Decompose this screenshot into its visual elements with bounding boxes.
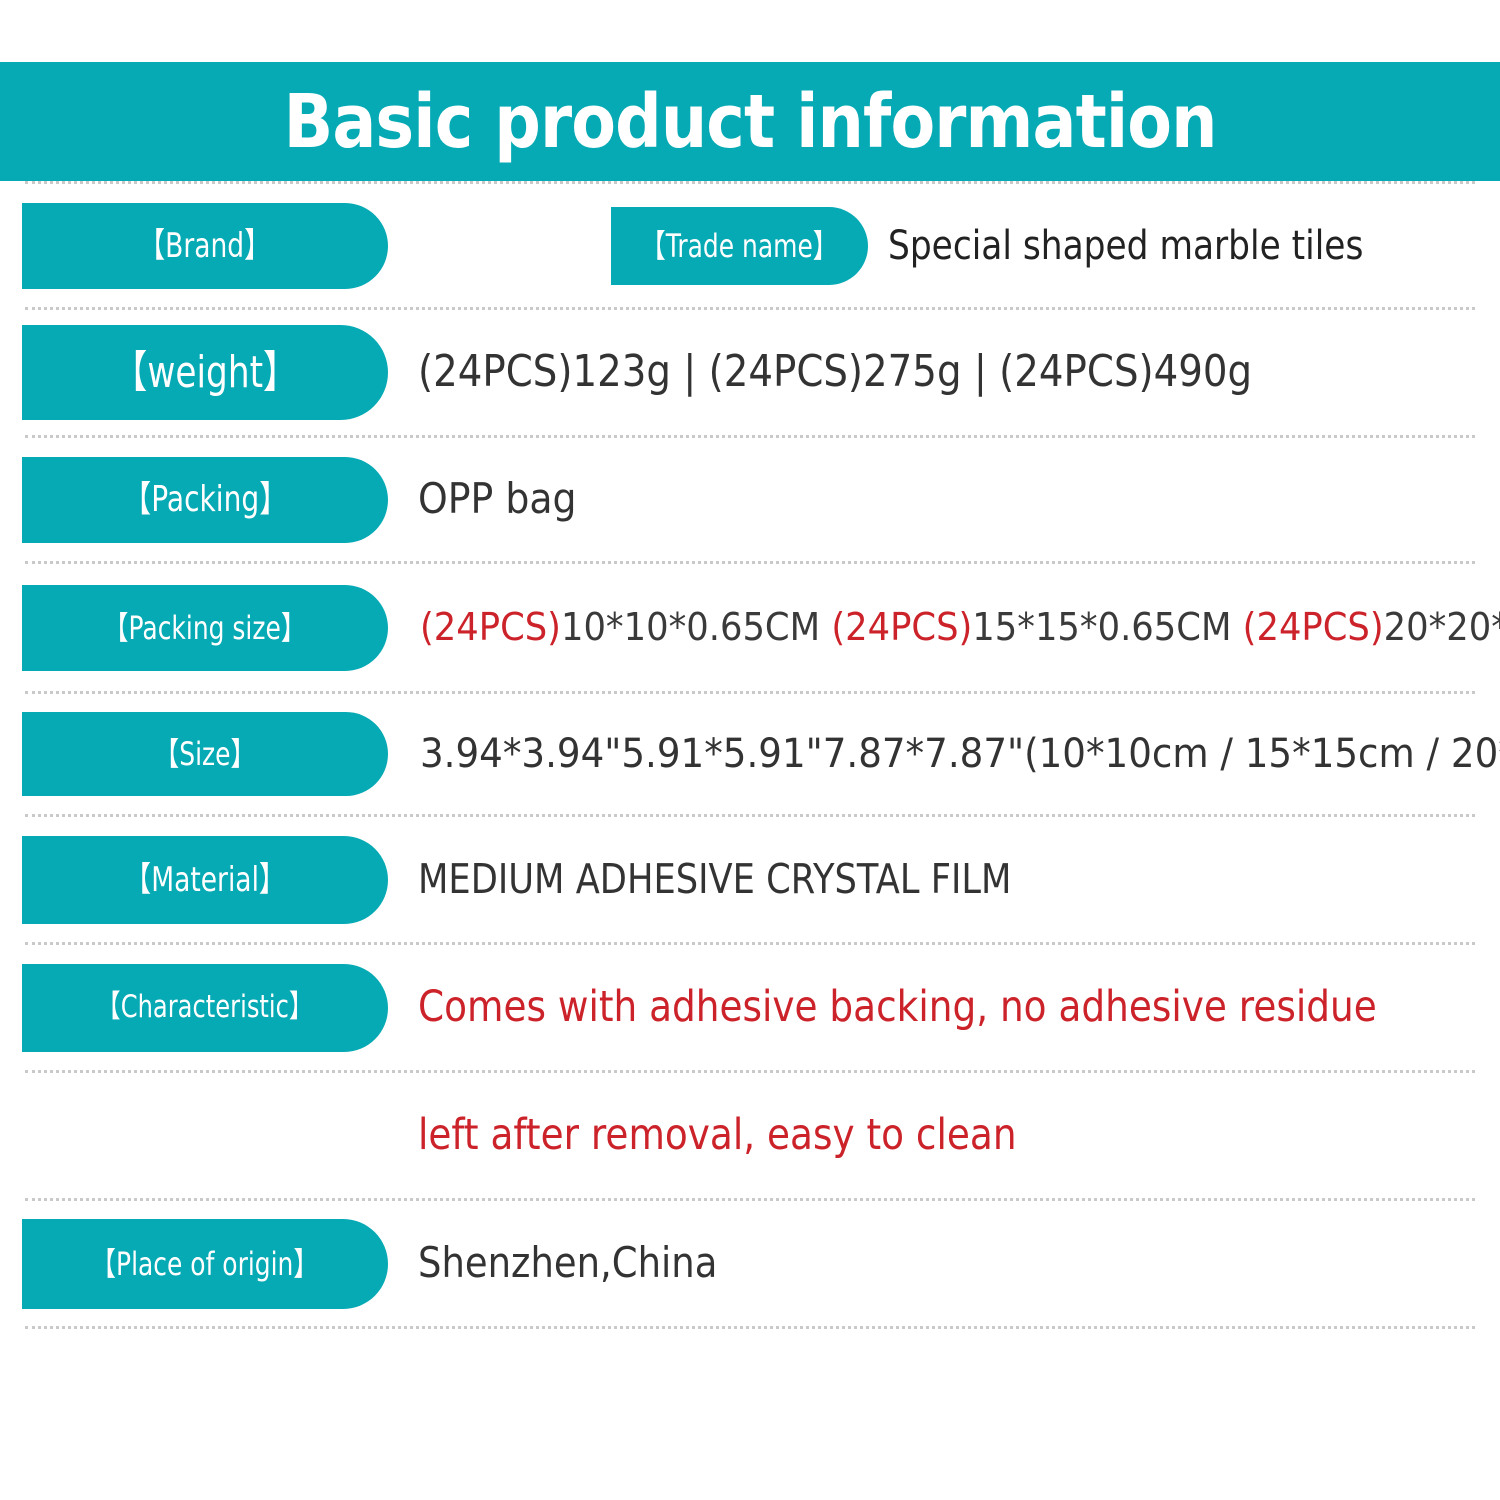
- table-row-size: 【Size】 3.94*3.94"5.91*5.91"7.87*7.87"(10…: [0, 694, 1500, 814]
- packing-size-dim-3: 20*20*0.65CM: [1384, 605, 1500, 649]
- value-packing-size: (24PCS)10*10*0.65CM (24PCS)15*15*0.65CM …: [420, 607, 1500, 649]
- value-trade-name: Special shaped marble tiles: [888, 223, 1363, 269]
- table-row-characteristic: 【Characteristic】 Comes with adhesive bac…: [0, 945, 1500, 1070]
- packing-size-qty-3: (24PCS): [1243, 605, 1384, 649]
- table-row-packing-size: 【Packing size】 (24PCS)10*10*0.65CM (24PC…: [0, 564, 1500, 691]
- table-row-weight: 【weight】 (24PCS)123g | (24PCS)275g | (24…: [0, 310, 1500, 435]
- label-pill-trade-name: 【Trade name】: [611, 207, 868, 285]
- label-pill-place-of-origin: 【Place of origin】: [22, 1219, 388, 1309]
- label-pill-characteristic: 【Characteristic】: [22, 964, 388, 1052]
- label-characteristic: 【Characteristic】: [97, 992, 314, 1023]
- label-trade-name: 【Trade name】: [641, 230, 838, 262]
- label-pill-size: 【Size】: [22, 712, 388, 796]
- value-size: 3.94*3.94"5.91*5.91"7.87*7.87"(10*10cm /…: [420, 732, 1500, 776]
- value-weight: (24PCS)123g | (24PCS)275g | (24PCS)490g: [418, 348, 1252, 396]
- label-pill-packing: 【Packing】: [22, 457, 388, 543]
- label-material: 【Material】: [125, 863, 286, 897]
- value-place-of-origin: Shenzhen,China: [418, 1240, 717, 1286]
- page-title: Basic product information: [284, 85, 1217, 159]
- label-pill-packing-size: 【Packing size】: [22, 585, 388, 671]
- value-material: MEDIUM ADHESIVE CRYSTAL FILM: [418, 857, 1011, 902]
- label-brand: 【Brand】: [139, 229, 271, 263]
- label-pill-brand: 【Brand】: [22, 203, 388, 289]
- value-characteristic-line2: left after removal, easy to clean: [418, 1112, 1017, 1159]
- table-row-brand: 【Brand】 【Trade name】 Special shaped marb…: [0, 184, 1500, 307]
- value-packing: OPP bag: [418, 476, 577, 522]
- label-pill-material: 【Material】: [22, 836, 388, 924]
- packing-size-qty-1: (24PCS): [420, 605, 561, 649]
- label-packing-size: 【Packing size】: [104, 612, 306, 644]
- label-pill-weight: 【weight】: [22, 325, 388, 420]
- table-row-characteristic-continued: left after removal, easy to clean: [0, 1073, 1500, 1198]
- packing-size-dim-2: 15*15*0.65CM: [972, 605, 1242, 649]
- table-row-material: 【Material】 MEDIUM ADHESIVE CRYSTAL FILM: [0, 817, 1500, 942]
- value-characteristic-line1: Comes with adhesive backing, no adhesive…: [418, 984, 1377, 1031]
- packing-size-dim-1: 10*10*0.65CM: [561, 605, 831, 649]
- table-row-packing: 【Packing】 OPP bag: [0, 438, 1500, 561]
- product-info-page: Basic product information 【Brand】 【Trade…: [0, 0, 1500, 1500]
- header-banner: Basic product information: [0, 62, 1500, 181]
- table-row-place-of-origin: 【Place of origin】 Shenzhen,China: [0, 1201, 1500, 1326]
- row-divider: [25, 1326, 1475, 1329]
- label-weight: 【weight】: [113, 351, 297, 395]
- packing-size-qty-2: (24PCS): [831, 605, 972, 649]
- label-packing: 【Packing】: [123, 482, 287, 518]
- label-size: 【Size】: [154, 738, 255, 770]
- spec-table: 【Brand】 【Trade name】 Special shaped marb…: [0, 181, 1500, 1329]
- label-place-of-origin: 【Place of origin】: [91, 1248, 318, 1280]
